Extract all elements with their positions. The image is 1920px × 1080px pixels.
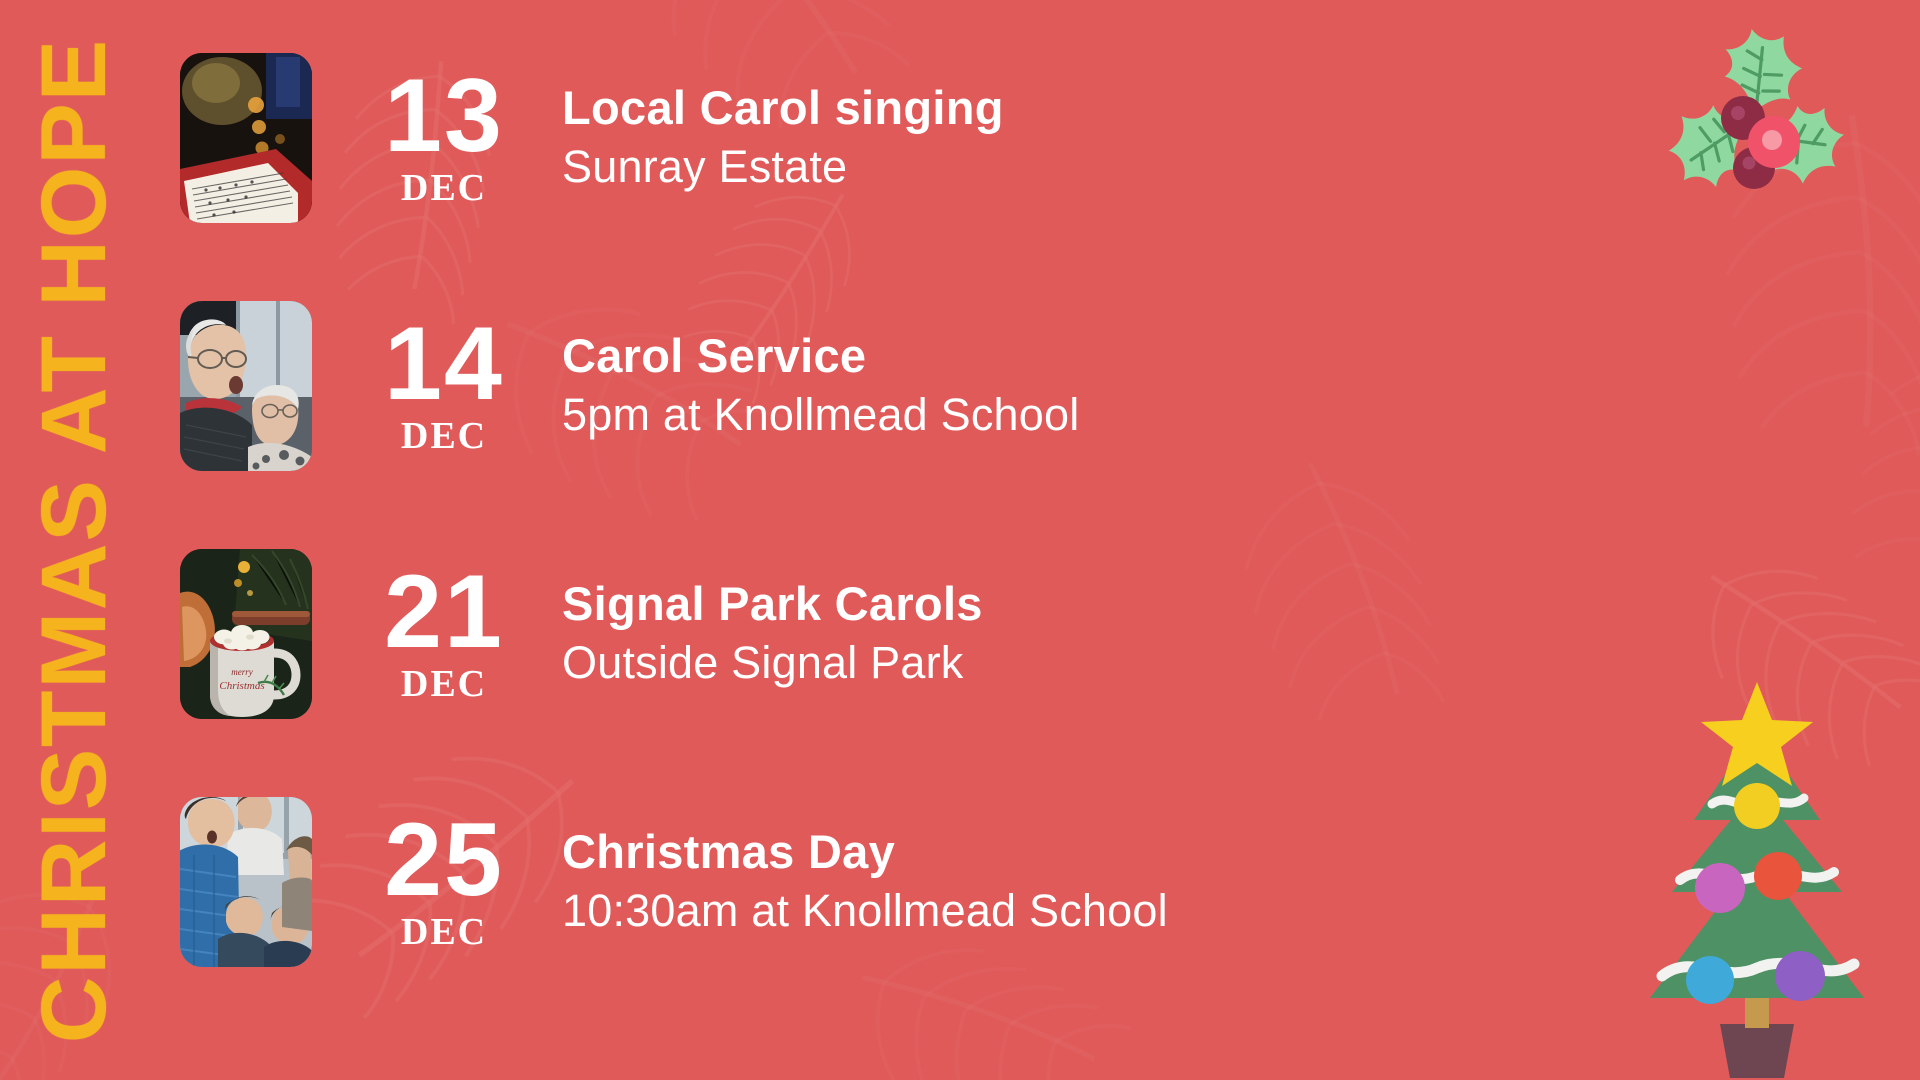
event-title: Carol Service [562,328,1079,384]
event-day: 21 [384,565,504,661]
event-title: Signal Park Carols [562,576,983,632]
tree-bauble [1734,783,1780,829]
event-title: Christmas Day [562,824,1168,880]
event-text: Local Carol singing Sunray Estate [562,80,1004,196]
event-date: 14 DEC [360,317,528,455]
carol-songbook-photo [180,53,312,223]
event-text: Signal Park Carols Outside Signal Park [562,576,983,692]
tree-bauble [1775,951,1825,1001]
svg-text:merry: merry [231,667,253,677]
event-subtitle: 5pm at Knollmead School [562,386,1079,444]
tree-bauble [1754,852,1802,900]
event-day: 25 [384,813,504,909]
tree-bauble [1686,956,1734,1004]
event-text: Carol Service 5pm at Knollmead School [562,328,1079,444]
event-subtitle: Sunray Estate [562,138,1004,196]
event-day: 13 [384,69,504,165]
holly-icon [1602,8,1902,223]
hot-chocolate-mug-photo: merry Christmas [180,549,312,719]
event-month: DEC [401,913,487,951]
vertical-title-rail: CHRISTMAS AT HOPE [0,0,150,1080]
event-date: 13 DEC [360,69,528,207]
event-row[interactable]: 13 DEC Local Carol singing Sunray Estate [180,14,1480,262]
event-subtitle: 10:30am at Knollmead School [562,882,1168,940]
page-title: CHRISTMAS AT HOPE [23,37,128,1042]
event-day: 14 [384,317,504,413]
christmas-tree-icon [1602,680,1912,1080]
event-row[interactable]: 14 DEC Carol Service 5pm at Knollmead Sc… [180,262,1480,510]
event-row[interactable]: 25 DEC Christmas Day 10:30am at Knollmea… [180,758,1480,1006]
event-month: DEC [401,665,487,703]
event-month: DEC [401,169,487,207]
tree-bauble [1695,863,1745,913]
event-title: Local Carol singing [562,80,1004,136]
event-text: Christmas Day 10:30am at Knollmead Schoo… [562,824,1168,940]
event-date: 21 DEC [360,565,528,703]
event-date: 25 DEC [360,813,528,951]
tree-pot [1720,1024,1794,1078]
event-subtitle: Outside Signal Park [562,634,983,692]
event-row[interactable]: merry Christmas 21 DEC Signal Park Carol… [180,510,1480,758]
family-singing-photo [180,797,312,967]
congregation-singing-photo [180,301,312,471]
event-month: DEC [401,417,487,455]
event-list: 13 DEC Local Carol singing Sunray Estate [180,0,1480,1080]
